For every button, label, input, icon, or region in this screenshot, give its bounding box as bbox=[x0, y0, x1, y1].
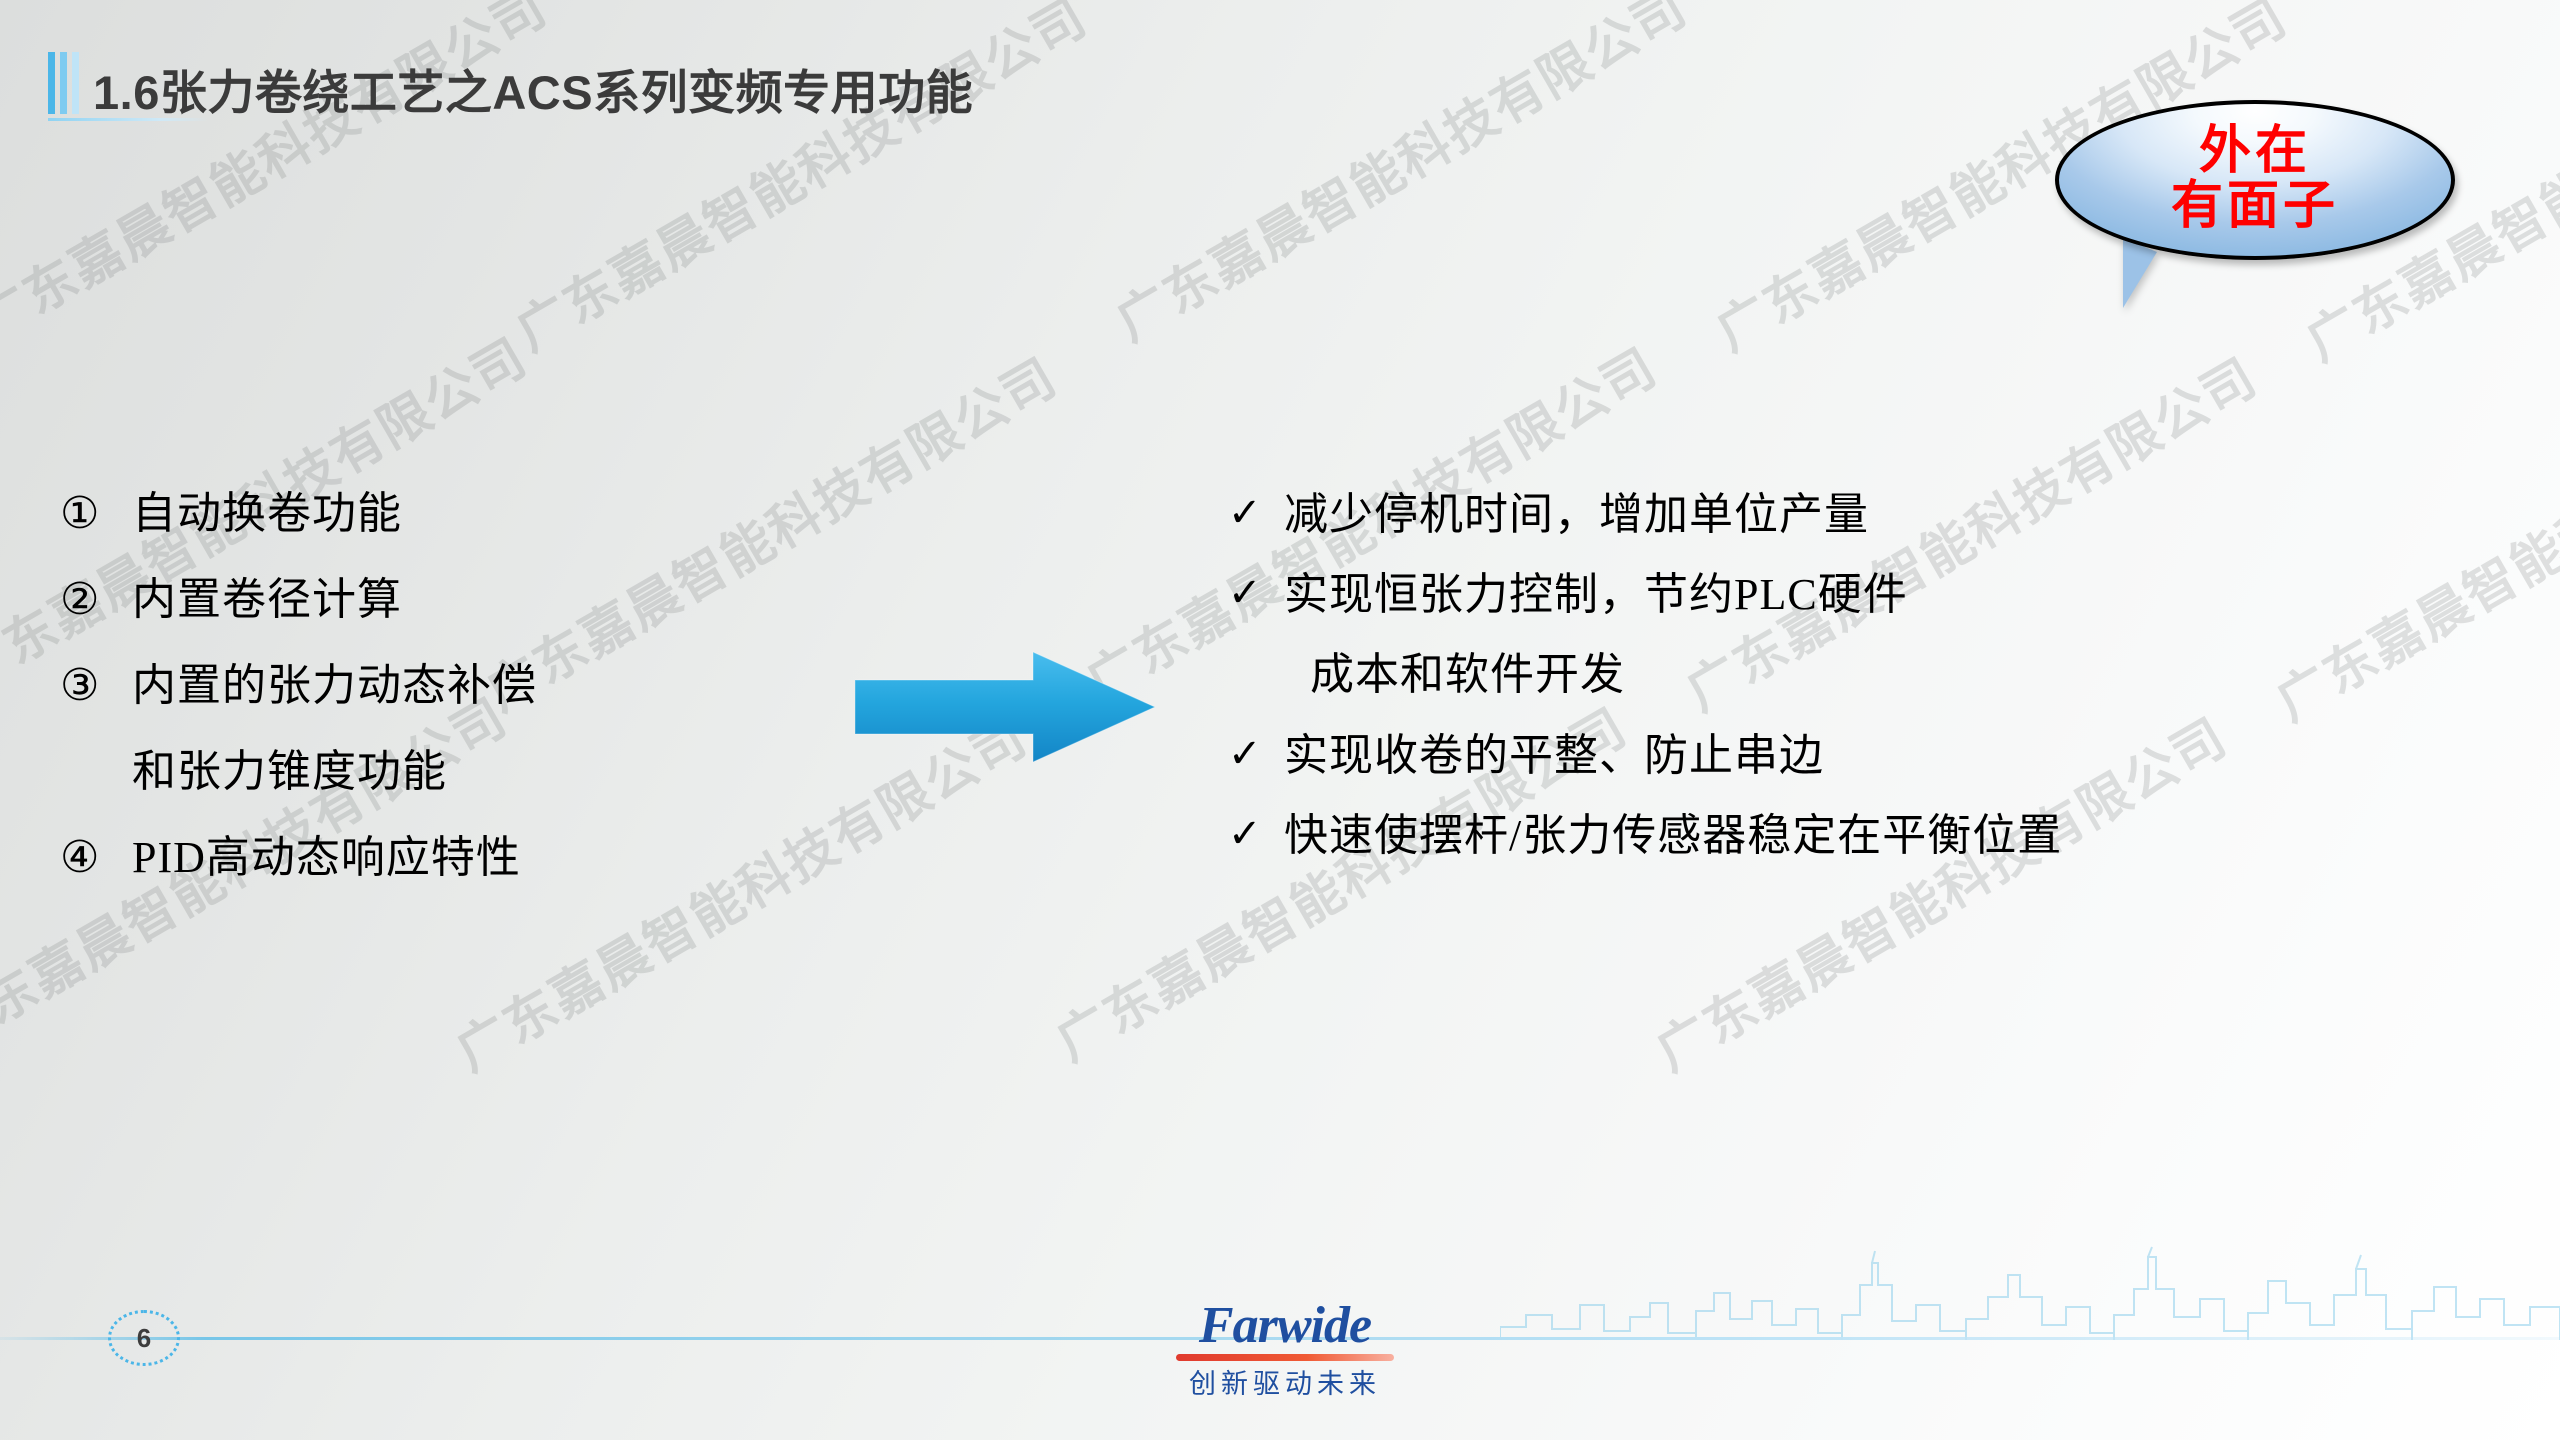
brand-tagline: 创新驱动未来 bbox=[1085, 1362, 1485, 1401]
brand-logo: Farwide 创新驱动未来 bbox=[1085, 1300, 1485, 1401]
list-item-label: 减少停机时间，增加单位产量 bbox=[1284, 492, 1869, 538]
list-item-label: 实现恒张力控制，节约PLC硬件 bbox=[1284, 572, 1908, 618]
list-item-label: 内置卷径计算 bbox=[132, 578, 402, 622]
page-number-badge: 6 bbox=[108, 1310, 180, 1366]
watermark-text: 广东嘉晨智能科技有限公司 bbox=[1100, 0, 1699, 355]
list-item: ② 内置卷径计算 bbox=[60, 578, 850, 622]
list-item-marker: ② bbox=[60, 578, 132, 622]
list-item-label: 实现收卷的平整、防止串边 bbox=[1284, 733, 1824, 779]
list-item-label: PID高动态响应特性 bbox=[132, 836, 521, 880]
list-item-label: 成本和软件开发 bbox=[1310, 652, 1625, 698]
page-badge-ring-icon bbox=[108, 1310, 180, 1366]
callout-line-1: 外在 bbox=[2199, 125, 2311, 180]
list-item: ✓ 实现收卷的平整、防止串边 bbox=[1228, 733, 2498, 779]
list-item-continuation: 成本和软件开发 bbox=[1310, 652, 2498, 698]
slide-title: 1.6张力卷绕工艺之ACS系列变频专用功能 bbox=[48, 42, 973, 116]
check-icon: ✓ bbox=[1228, 733, 1284, 775]
list-item: ✓ 快速使摆杆/张力传感器稳定在平衡位置 bbox=[1228, 813, 2498, 859]
slide-canvas: 广东嘉晨智能科技有限公司 广东嘉晨智能科技有限公司 广东嘉晨智能科技有限公司 广… bbox=[0, 0, 2560, 1440]
list-item-label: 自动换卷功能 bbox=[132, 492, 402, 536]
list-item-label: 和张力锥度功能 bbox=[132, 750, 447, 794]
list-item-label: 内置的张力动态补偿 bbox=[132, 664, 537, 708]
callout-bubble: 外在 有面子 bbox=[2055, 100, 2475, 310]
title-underline-divider bbox=[48, 118, 208, 121]
page-title: 1.6张力卷绕工艺之ACS系列变频专用功能 bbox=[93, 69, 973, 116]
check-icon: ✓ bbox=[1228, 572, 1284, 614]
check-icon: ✓ bbox=[1228, 813, 1284, 855]
brand-swoosh-icon bbox=[1176, 1354, 1394, 1361]
title-bars-icon bbox=[48, 52, 79, 114]
right-arrow-icon bbox=[855, 648, 1155, 766]
watermark-text: 广东嘉晨智能科技有限公司 bbox=[530, 0, 1129, 5]
list-item-marker: ③ bbox=[60, 664, 132, 708]
list-item: ✓ 实现恒张力控制，节约PLC硬件 bbox=[1228, 572, 2498, 618]
list-item: ③ 内置的张力动态补偿 bbox=[60, 664, 850, 708]
left-feature-list: ① 自动换卷功能 ② 内置卷径计算 ③ 内置的张力动态补偿 和张力锥度功能 ④ … bbox=[60, 492, 850, 922]
right-benefit-list: ✓ 减少停机时间，增加单位产量 ✓ 实现恒张力控制，节约PLC硬件 成本和软件开… bbox=[1228, 492, 2498, 893]
check-icon: ✓ bbox=[1228, 492, 1284, 534]
list-item: ① 自动换卷功能 bbox=[60, 492, 850, 536]
callout-bubble-body: 外在 有面子 bbox=[2055, 100, 2455, 260]
list-item-marker: ① bbox=[60, 492, 132, 536]
list-item: ④ PID高动态响应特性 bbox=[60, 836, 850, 880]
list-item-marker: ④ bbox=[60, 836, 132, 880]
city-skyline-decoration-icon bbox=[1500, 1245, 2560, 1340]
callout-line-2: 有面子 bbox=[2171, 180, 2339, 235]
watermark-text: 广东嘉晨智能科技有限公司 bbox=[1730, 0, 2329, 5]
list-item-label: 快速使摆杆/张力传感器稳定在平衡位置 bbox=[1284, 813, 2062, 859]
brand-name: Farwide bbox=[1085, 1300, 1485, 1352]
list-item-continuation: 和张力锥度功能 bbox=[132, 750, 850, 794]
list-item: ✓ 减少停机时间，增加单位产量 bbox=[1228, 492, 2498, 538]
